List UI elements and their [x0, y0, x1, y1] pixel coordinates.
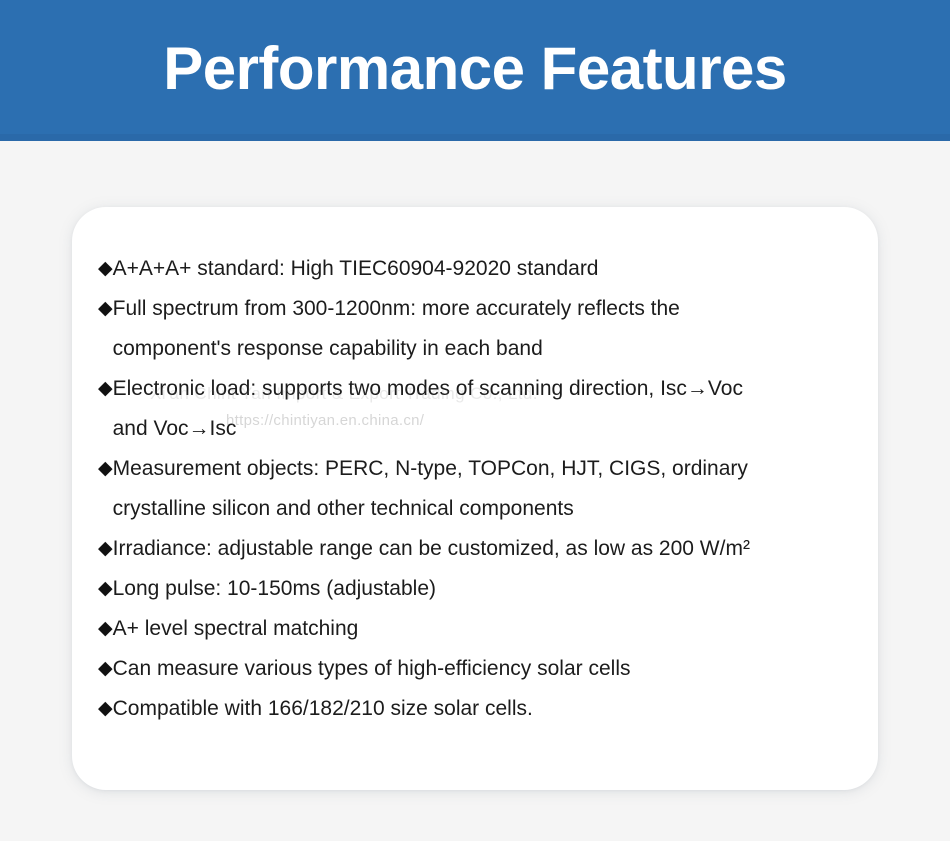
feature-item-text: Electronic load: supports two modes of s…: [113, 369, 860, 449]
list-item: ◆ A+A+A+ standard: High TIEC60904-92020 …: [98, 249, 860, 289]
list-item: ◆ Long pulse: 10-150ms (adjustable): [98, 569, 860, 609]
diamond-bullet-icon: ◆: [98, 249, 113, 289]
feature-item-text: Measurement objects: PERC, N-type, TOPCo…: [113, 449, 860, 529]
page-header: Performance Features: [0, 0, 950, 141]
diamond-bullet-icon: ◆: [98, 569, 113, 609]
feature-item-text: Long pulse: 10-150ms (adjustable): [113, 569, 860, 609]
feature-item-text: A+A+A+ standard: High TIEC60904-92020 st…: [113, 249, 860, 289]
feature-item-text: Compatible with 166/182/210 size solar c…: [113, 689, 860, 729]
feature-card: ◆ A+A+A+ standard: High TIEC60904-92020 …: [72, 207, 878, 790]
feature-item-text: Full spectrum from 300-1200nm: more accu…: [113, 289, 860, 369]
diamond-bullet-icon: ◆: [98, 609, 113, 649]
diamond-bullet-icon: ◆: [98, 689, 113, 729]
page-body: ◆ A+A+A+ standard: High TIEC60904-92020 …: [0, 141, 950, 841]
feature-item-text: A+ level spectral matching: [113, 609, 860, 649]
feature-item-text: Irradiance: adjustable range can be cust…: [113, 529, 860, 569]
feature-list: ◆ A+A+A+ standard: High TIEC60904-92020 …: [98, 249, 860, 729]
feature-item-text: Can measure various types of high-effici…: [113, 649, 860, 689]
list-item: ◆ Can measure various types of high-effi…: [98, 649, 860, 689]
list-item: ◆ Full spectrum from 300-1200nm: more ac…: [98, 289, 860, 369]
list-item: ◆ Measurement objects: PERC, N-type, TOP…: [98, 449, 860, 529]
diamond-bullet-icon: ◆: [98, 649, 113, 689]
diamond-bullet-icon: ◆: [98, 449, 113, 489]
page-title: Performance Features: [163, 39, 787, 99]
list-item: ◆ Compatible with 166/182/210 size solar…: [98, 689, 860, 729]
diamond-bullet-icon: ◆: [98, 289, 113, 329]
diamond-bullet-icon: ◆: [98, 369, 113, 409]
diamond-bullet-icon: ◆: [98, 529, 113, 569]
list-item: ◆ Electronic load: supports two modes of…: [98, 369, 860, 449]
list-item: ◆ Irradiance: adjustable range can be cu…: [98, 529, 860, 569]
list-item: ◆ A+ level spectral matching: [98, 609, 860, 649]
